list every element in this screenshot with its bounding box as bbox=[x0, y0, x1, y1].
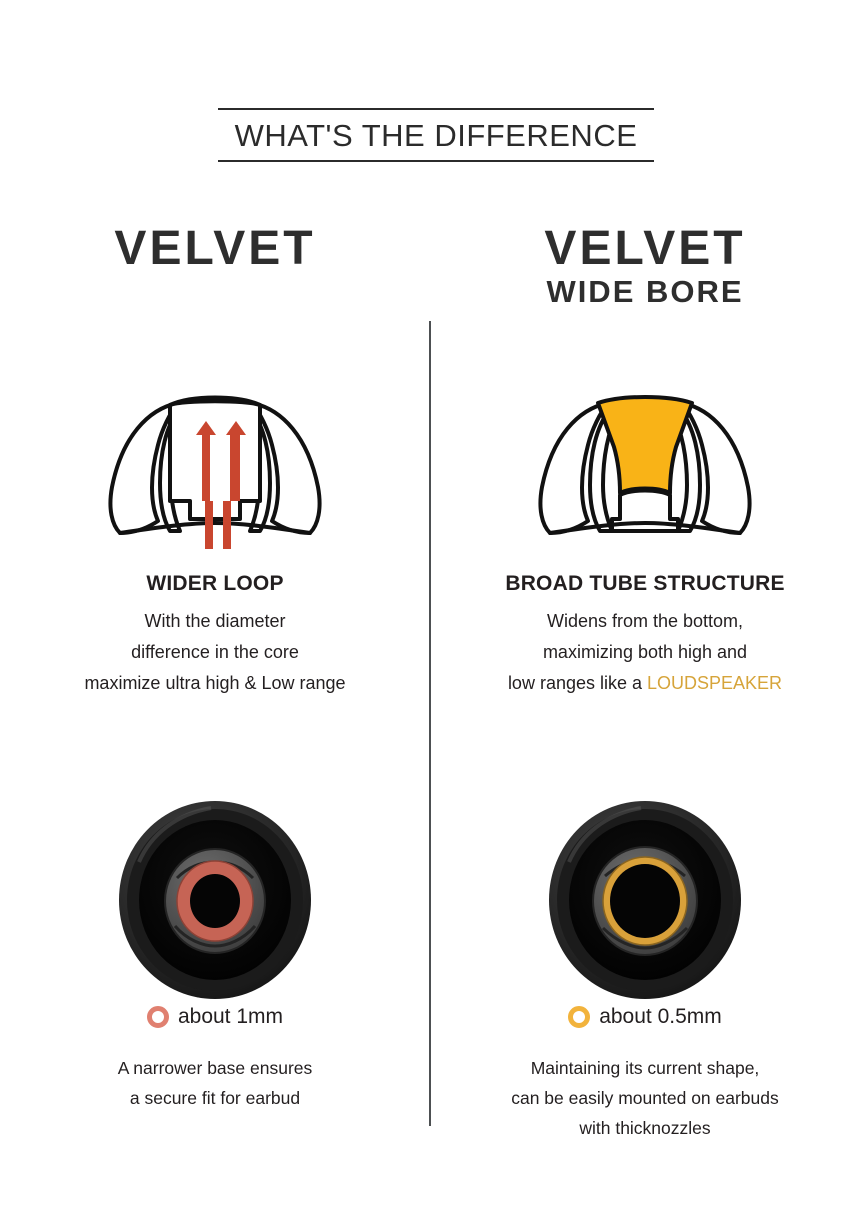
title-rule-bottom bbox=[218, 160, 654, 162]
measure-ring-icon bbox=[568, 1006, 590, 1028]
feature-description-line: Widens from the bottom, bbox=[440, 606, 850, 637]
brand-main-label: VELVET bbox=[440, 222, 850, 276]
feature-description-line: maximizing both high and bbox=[440, 637, 850, 668]
measure-label: about 1mm bbox=[178, 1005, 283, 1029]
feature-description: Widens from the bottom, maximizing both … bbox=[440, 606, 850, 699]
note-line: can be easily mounted on earbuds bbox=[440, 1083, 850, 1113]
diagram-wide-bore-cross-section bbox=[440, 383, 850, 553]
note-velvet: A narrower base ensures a secure fit for… bbox=[10, 1053, 420, 1113]
page-header: WHAT'S THE DIFFERENCE bbox=[218, 108, 654, 162]
feature-title: BROAD TUBE STRUCTURE bbox=[440, 570, 850, 598]
eartip-cross-section-narrow-bore-icon bbox=[100, 383, 330, 553]
note-wide-bore: Maintaining its current shape, can be ea… bbox=[440, 1053, 850, 1143]
feature-description-line: difference in the core bbox=[10, 637, 420, 668]
measure-ring-icon bbox=[147, 1006, 169, 1028]
note-line: A narrower base ensures bbox=[10, 1053, 420, 1083]
note-line: with thicknozzles bbox=[440, 1113, 850, 1143]
feature-title: WIDER LOOP bbox=[10, 570, 420, 598]
eartip-photo-velvet bbox=[10, 800, 420, 1000]
measure-row-wide-bore: about 0.5mm bbox=[440, 1005, 850, 1029]
feature-description-line: maximize ultra high & Low range bbox=[10, 668, 420, 699]
column-divider bbox=[429, 321, 431, 1126]
feature-block-velvet: WIDER LOOP With the diameter difference … bbox=[10, 570, 420, 699]
brand-heading-velvet: VELVET bbox=[10, 222, 420, 276]
measure-row-velvet: about 1mm bbox=[10, 1005, 420, 1029]
feature-description-line-with-highlight: low ranges like a LOUDSPEAKER bbox=[440, 668, 850, 699]
eartip-photo-gold-core bbox=[545, 800, 745, 1000]
brand-heading-velvet-wide-bore: VELVET WIDE BORE bbox=[440, 222, 850, 310]
measure-label: about 0.5mm bbox=[599, 1005, 722, 1029]
eartip-photo-wide-bore bbox=[440, 800, 850, 1000]
page-title: WHAT'S THE DIFFERENCE bbox=[218, 116, 654, 156]
brand-sub-label: WIDE BORE bbox=[440, 274, 850, 310]
note-line: a secure fit for earbud bbox=[10, 1083, 420, 1113]
loudspeaker-highlight: LOUDSPEAKER bbox=[647, 673, 782, 693]
note-line: Maintaining its current shape, bbox=[440, 1053, 850, 1083]
diagram-velvet-cross-section bbox=[10, 383, 420, 553]
feature-description-line: With the diameter bbox=[10, 606, 420, 637]
eartip-photo-red-core bbox=[115, 800, 315, 1000]
feature-description: With the diameter difference in the core… bbox=[10, 606, 420, 699]
brand-main-label: VELVET bbox=[10, 222, 420, 276]
feature-description-line: low ranges like a bbox=[508, 673, 647, 693]
eartip-cross-section-wide-bore-icon bbox=[530, 383, 760, 553]
feature-block-wide-bore: BROAD TUBE STRUCTURE Widens from the bot… bbox=[440, 570, 850, 699]
title-rule-top bbox=[218, 108, 654, 110]
